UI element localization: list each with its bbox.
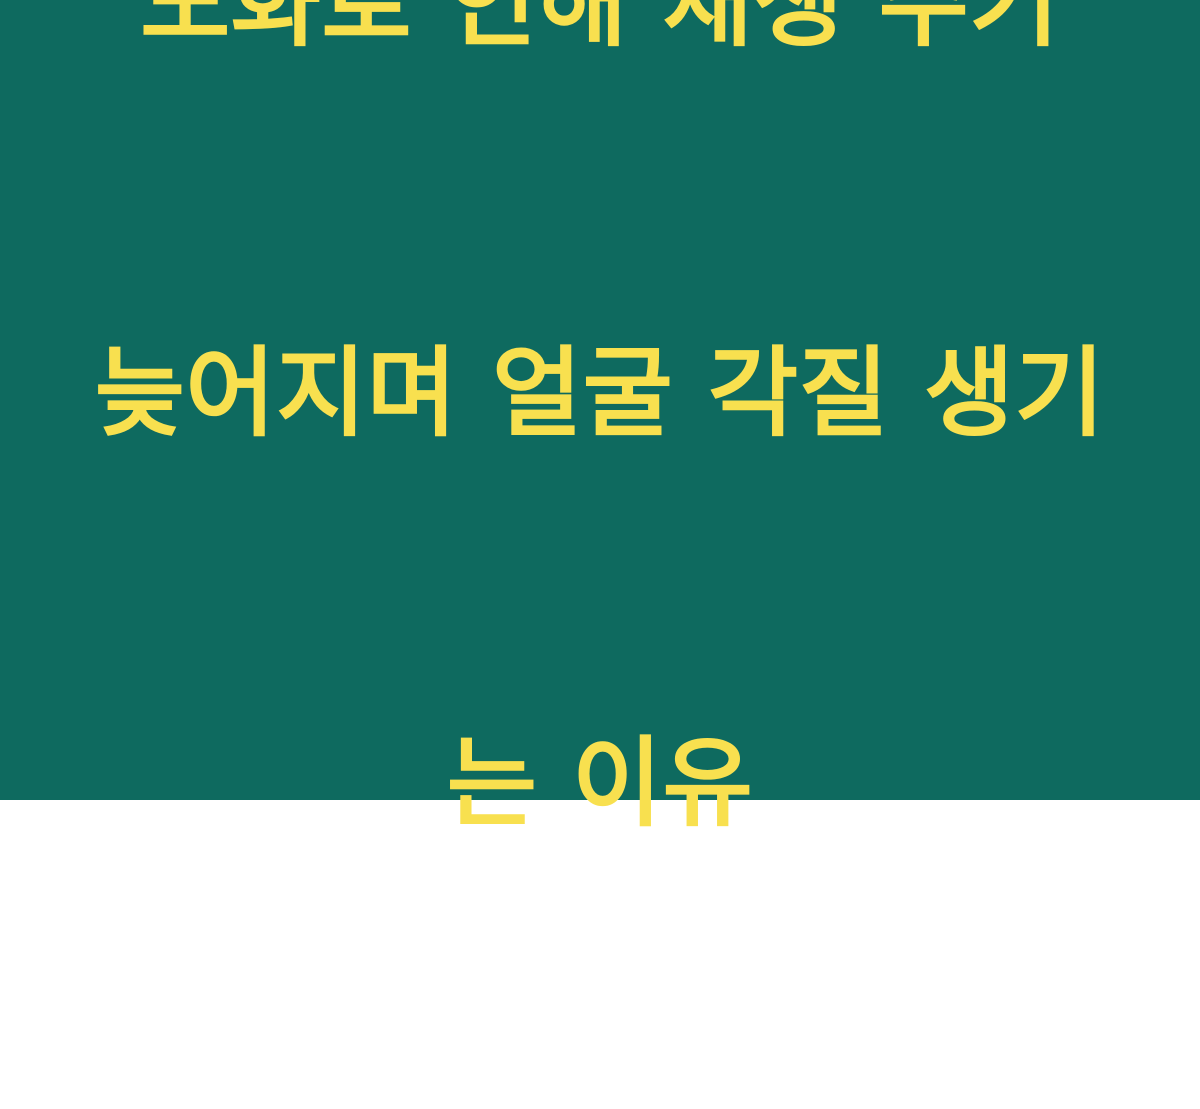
headline-line-3: 는 이유 [80,719,1120,849]
headline-line-1: 노화로 인해 재생 주기 [80,0,1120,69]
page-title: 노화로 인해 재생 주기 늦어지며 얼굴 각질 생기 는 이유 [80,0,1120,1109]
headline-line-2: 늦어지며 얼굴 각질 생기 [80,329,1120,459]
title-card: 노화로 인해 재생 주기 늦어지며 얼굴 각질 생기 는 이유 [0,0,1200,800]
